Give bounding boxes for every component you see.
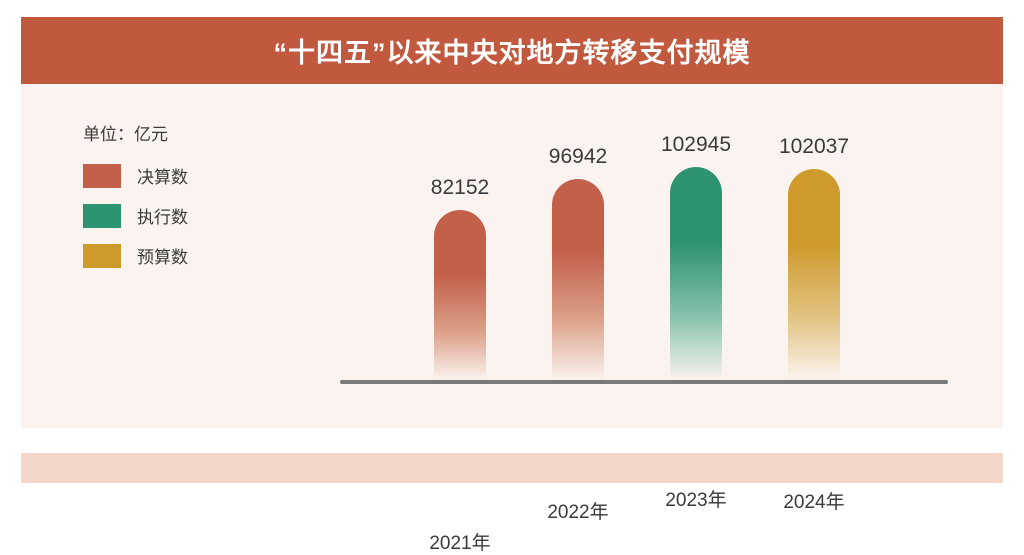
bar-shape xyxy=(670,167,722,380)
bar-group: 102037 2024年 xyxy=(758,169,870,380)
legend-swatch-icon-final-accounts xyxy=(83,164,121,188)
bar-shape xyxy=(552,179,604,380)
bar-group: 96942 2022年 xyxy=(522,179,634,380)
x-axis-tick-label: 2023年 xyxy=(640,485,752,512)
x-axis-tick-label: 2022年 xyxy=(522,497,634,524)
bar-shape xyxy=(788,169,840,380)
x-axis-tick-label: 2021年 xyxy=(404,528,516,555)
legend-label-final-accounts: 决算数 xyxy=(137,163,188,188)
legend-label-budget: 预算数 xyxy=(137,243,188,268)
header-banner: “十四五”以来中央对地方转移支付规模 xyxy=(21,17,1003,84)
bar-value-label: 82152 xyxy=(404,176,516,200)
bar-value-label: 102945 xyxy=(640,133,752,157)
legend-label-execution: 执行数 xyxy=(137,203,188,228)
plot-area: 82152 2021年 96942 2022年 102945 2023年 102… xyxy=(340,84,960,428)
x-axis-tick-label: 2024年 xyxy=(758,487,870,514)
footer-strip xyxy=(21,453,1003,483)
bar-value-label: 96942 xyxy=(522,145,634,169)
legend-unit-label: 单位：亿元 xyxy=(83,120,303,145)
chart-panel: 单位：亿元 决算数 执行数 预算数 82152 2021年 96942 2022… xyxy=(21,84,1003,428)
legend-item-execution: 执行数 xyxy=(83,203,303,228)
chart-legend: 单位：亿元 决算数 执行数 预算数 xyxy=(83,120,303,283)
legend-item-budget: 预算数 xyxy=(83,243,303,268)
bar-group: 102945 2023年 xyxy=(640,167,752,380)
bar-group: 82152 2021年 xyxy=(404,210,516,380)
legend-swatch-icon-execution xyxy=(83,204,121,228)
legend-item-final-accounts: 决算数 xyxy=(83,163,303,188)
bar-shape xyxy=(434,210,486,380)
legend-swatch-icon-budget xyxy=(83,244,121,268)
page-title: “十四五”以来中央对地方转移支付规模 xyxy=(274,31,751,70)
bar-value-label: 102037 xyxy=(758,135,870,159)
x-axis-line xyxy=(340,380,948,384)
